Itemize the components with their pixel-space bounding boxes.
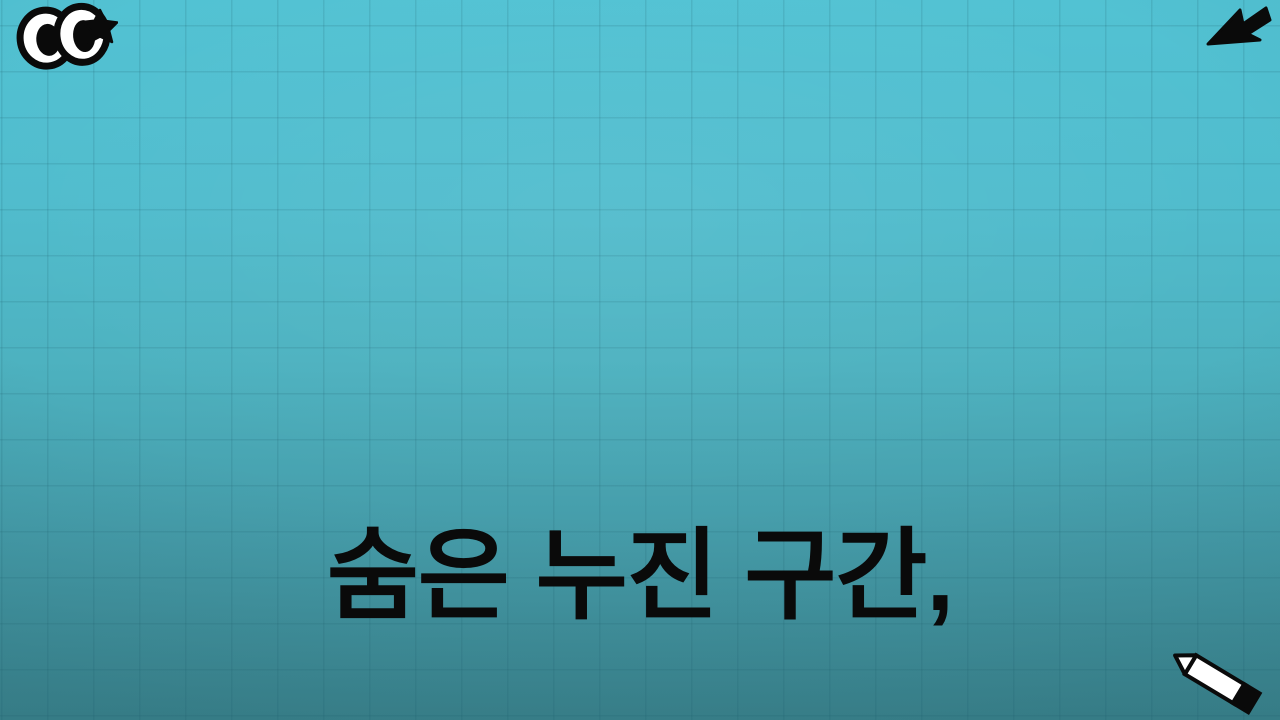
thumbnail-card: 숨은 누진 구간, 이것만은 꼭 피하세요 [0,0,1280,720]
arrow-down-left-icon [1204,2,1272,54]
page-title: 숨은 누진 구간, 이것만은 꼭 피하세요 [0,196,1280,720]
headline-line-1: 숨은 누진 구간, [0,500,1280,652]
googly-eyes-icon [8,2,128,72]
star-icon [82,8,118,44]
